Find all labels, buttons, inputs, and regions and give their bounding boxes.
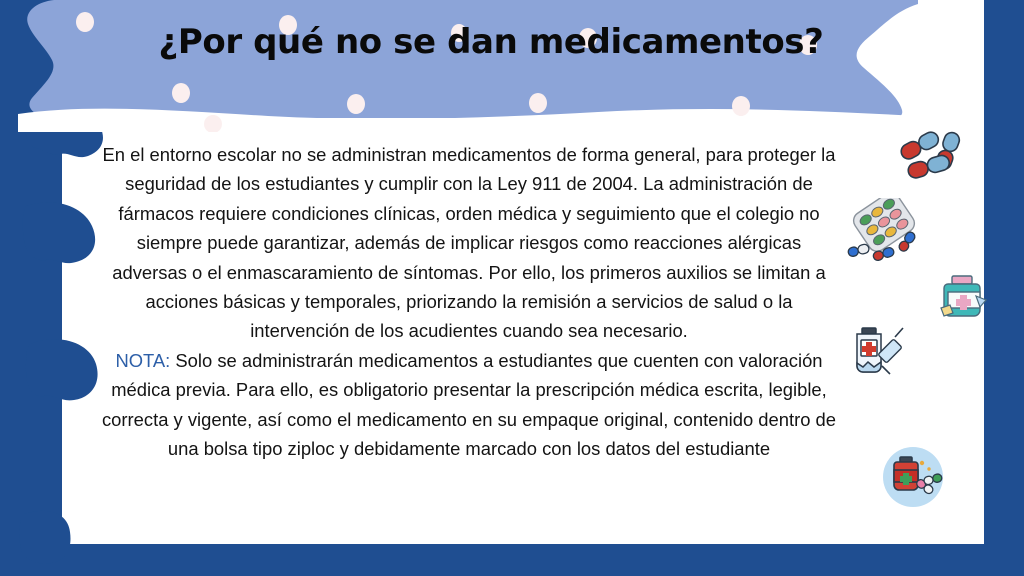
note-paragraph: NOTA: Solo se administrarán medicamentos… <box>100 346 838 464</box>
teal-pill-bottle-illustration <box>936 270 994 328</box>
page-title: ¿Por qué no se dan medicamentos? <box>18 22 918 62</box>
note-label: NOTA: <box>115 350 170 371</box>
bottle-syringe-illustration <box>848 326 912 382</box>
body-paragraph: En el entorno escolar no se administran … <box>100 140 838 346</box>
slide-canvas: ¿Por qué no se dan medicamentos? En el e… <box>0 0 1024 576</box>
body-text-block: En el entorno escolar no se administran … <box>100 140 838 463</box>
note-text: Solo se administrarán medicamentos a est… <box>102 350 836 459</box>
capsules-illustration <box>896 128 968 190</box>
title-banner: ¿Por qué no se dan medicamentos? <box>18 0 918 132</box>
blister-pack-illustration <box>846 198 920 262</box>
medicine-badge-illustration <box>882 446 944 508</box>
